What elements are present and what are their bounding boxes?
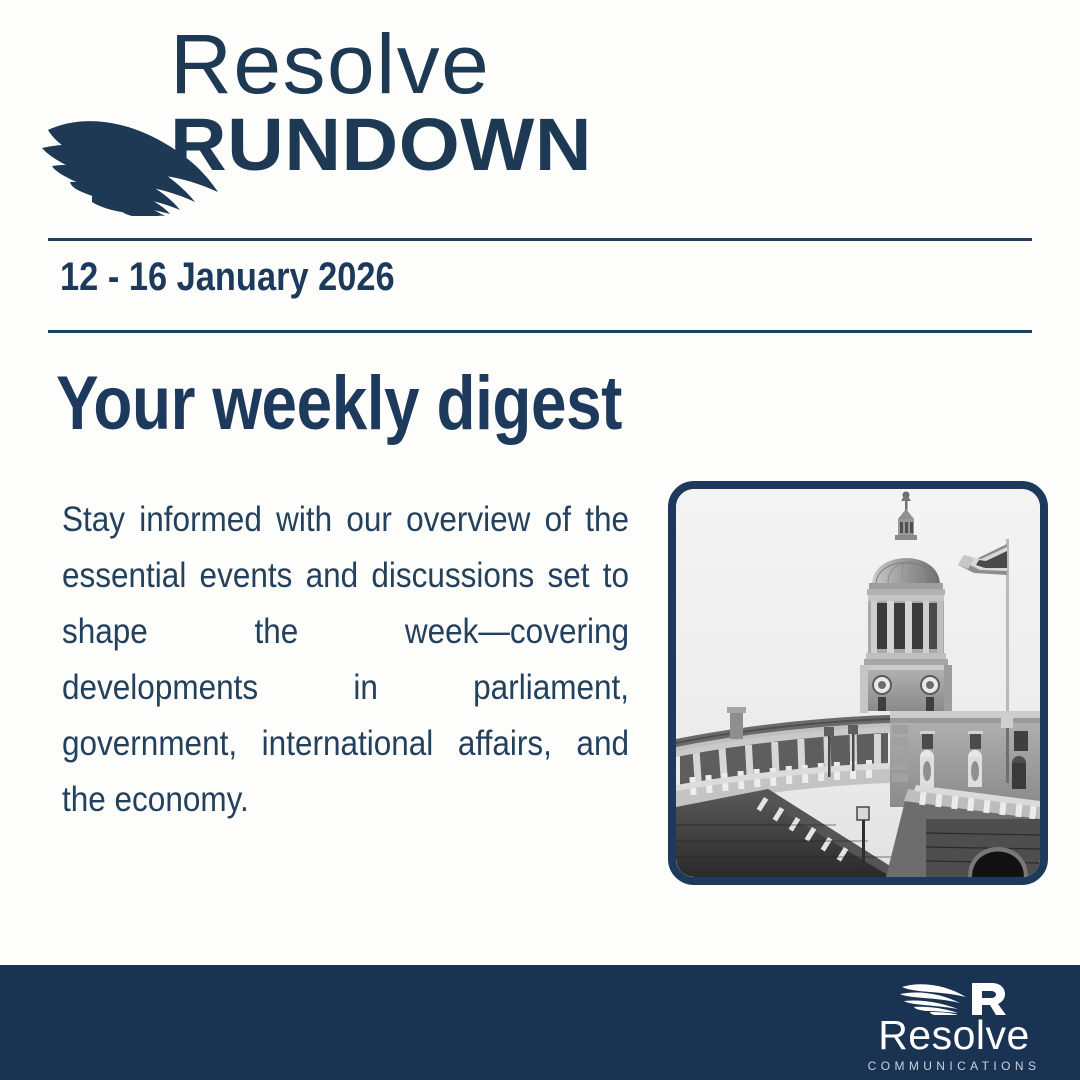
brand-wordmark: Resolve RUNDOWN bbox=[170, 18, 710, 184]
divider-bottom bbox=[48, 330, 1032, 333]
feature-photo-frame bbox=[668, 481, 1048, 885]
footer-bar: Resolve COMMUNICATIONS bbox=[0, 965, 1080, 1080]
wing-r-icon bbox=[900, 981, 1012, 1015]
footer-logo: Resolve COMMUNICATIONS bbox=[854, 977, 1054, 1073]
poster-canvas: Resolve RUNDOWN 12 - 16 January 2026 You… bbox=[0, 0, 1080, 1080]
feature-photo bbox=[676, 489, 1040, 877]
footer-tagline: COMMUNICATIONS bbox=[854, 1059, 1054, 1073]
page-title: Your weekly digest bbox=[56, 362, 622, 446]
footer-brand: Resolve bbox=[854, 1013, 1054, 1057]
brand-line-rundown: RUNDOWN bbox=[170, 106, 742, 184]
header-logo: Resolve RUNDOWN bbox=[40, 18, 700, 218]
body-paragraph: Stay informed with our overview of the e… bbox=[62, 492, 629, 828]
date-range: 12 - 16 January 2026 bbox=[60, 255, 395, 300]
brand-line-resolve: Resolve bbox=[170, 18, 721, 110]
divider-top bbox=[48, 238, 1032, 241]
